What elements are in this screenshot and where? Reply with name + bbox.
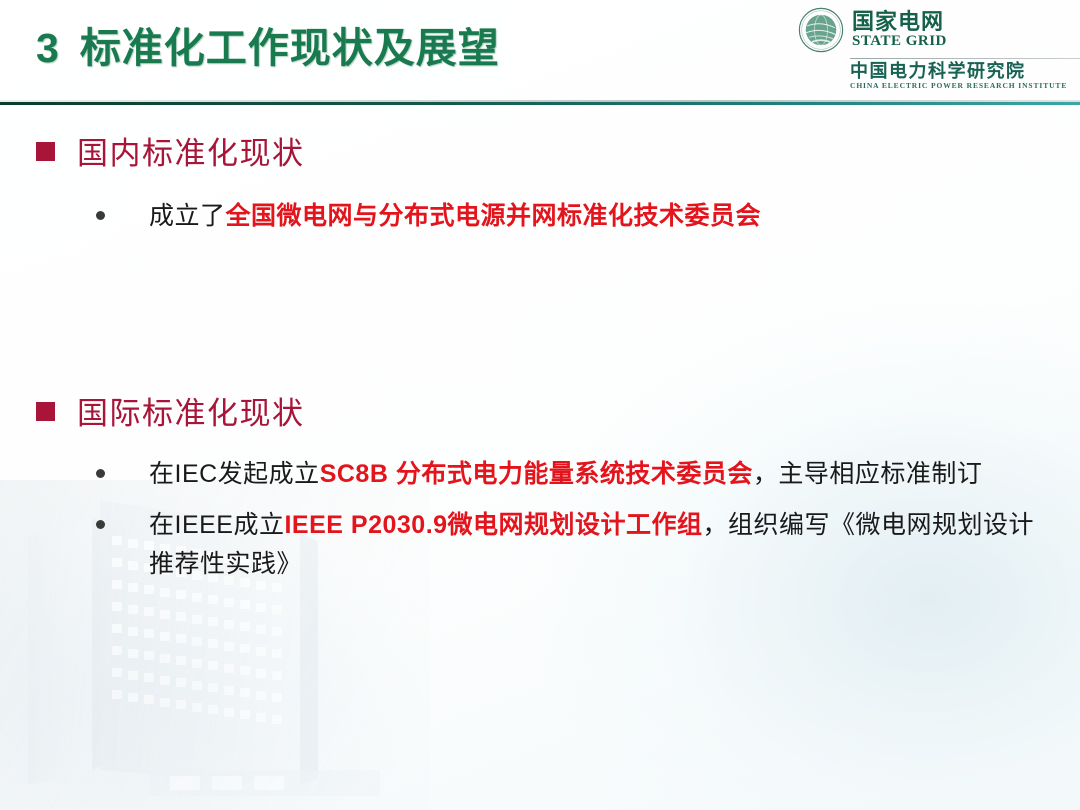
text-pre: 在IEC发起成立 xyxy=(149,460,320,488)
list-item-text: 成立了全国微电网与分布式电源并网标准化技术委员会 xyxy=(149,197,761,237)
text-pre: 成立了 xyxy=(149,202,226,230)
dot-bullet-icon xyxy=(96,469,105,478)
list-item: 在IEEE成立IEEE P2030.9微电网规划设计工作组，组织编写《微电网规划… xyxy=(96,506,1080,585)
text-highlight: SC8B 分布式电力能量系统技术委员会 xyxy=(320,460,753,488)
text-highlight: 全国微电网与分布式电源并网标准化技术委员会 xyxy=(226,202,762,230)
logo-institute-en: CHINA ELECTRIC POWER RESEARCH INSTITUTE xyxy=(850,82,1080,90)
list-item-text: 在IEC发起成立SC8B 分布式电力能量系统技术委员会，主导相应标准制订 xyxy=(149,455,982,495)
list-item: 成立了全国微电网与分布式电源并网标准化技术委员会 xyxy=(96,197,1080,237)
square-bullet-icon xyxy=(36,142,55,161)
text-post: ，主导相应标准制订 xyxy=(753,460,983,488)
text-highlight: IEEE P2030.9微电网规划设计工作组 xyxy=(284,511,702,539)
page-title: 3标准化工作现状及展望 xyxy=(36,14,500,74)
list-item-text: 在IEEE成立IEEE P2030.9微电网规划设计工作组，组织编写《微电网规划… xyxy=(149,506,1039,585)
corporate-logo: 国家电网 STATE GRID 中国电力科学研究院 CHINA ELECTRIC… xyxy=(788,6,1080,98)
section-international: 国际标准化现状 在IEC发起成立SC8B 分布式电力能量系统技术委员会，主导相应… xyxy=(0,388,1080,596)
presentation-slide: 3标准化工作现状及展望 国家电网 STATE GRID xyxy=(0,0,1080,810)
state-grid-emblem-icon xyxy=(798,7,844,53)
dot-bullet-icon xyxy=(96,520,105,529)
square-bullet-icon xyxy=(36,402,55,421)
logo-institute-cn: 中国电力科学研究院 xyxy=(850,62,1080,80)
logo-company-en: STATE GRID xyxy=(852,34,947,49)
section-title: 国际标准化现状 xyxy=(77,388,305,433)
logo-divider xyxy=(850,58,1080,59)
text-pre: 在IEEE成立 xyxy=(149,511,284,539)
section-domestic: 国内标准化现状 成立了全国微电网与分布式电源并网标准化技术委员会 xyxy=(0,128,1080,248)
title-number: 3 xyxy=(36,25,60,71)
list-item: 在IEC发起成立SC8B 分布式电力能量系统技术委员会，主导相应标准制订 xyxy=(96,455,1080,495)
section-title: 国内标准化现状 xyxy=(77,128,305,173)
bullet-list-international: 在IEC发起成立SC8B 分布式电力能量系统技术委员会，主导相应标准制订 在IE… xyxy=(0,455,1080,585)
slide-content: 国内标准化现状 成立了全国微电网与分布式电源并网标准化技术委员会 国际标准化现状… xyxy=(0,104,1080,810)
bullet-list-domestic: 成立了全国微电网与分布式电源并网标准化技术委员会 xyxy=(0,197,1080,237)
dot-bullet-icon xyxy=(96,211,105,220)
slide-header: 3标准化工作现状及展望 国家电网 STATE GRID xyxy=(0,0,1080,104)
section-heading-domestic: 国内标准化现状 xyxy=(0,128,1080,173)
section-heading-international: 国际标准化现状 xyxy=(0,388,1080,433)
logo-company-cn: 国家电网 xyxy=(852,11,947,33)
title-text: 标准化工作现状及展望 xyxy=(80,25,500,71)
